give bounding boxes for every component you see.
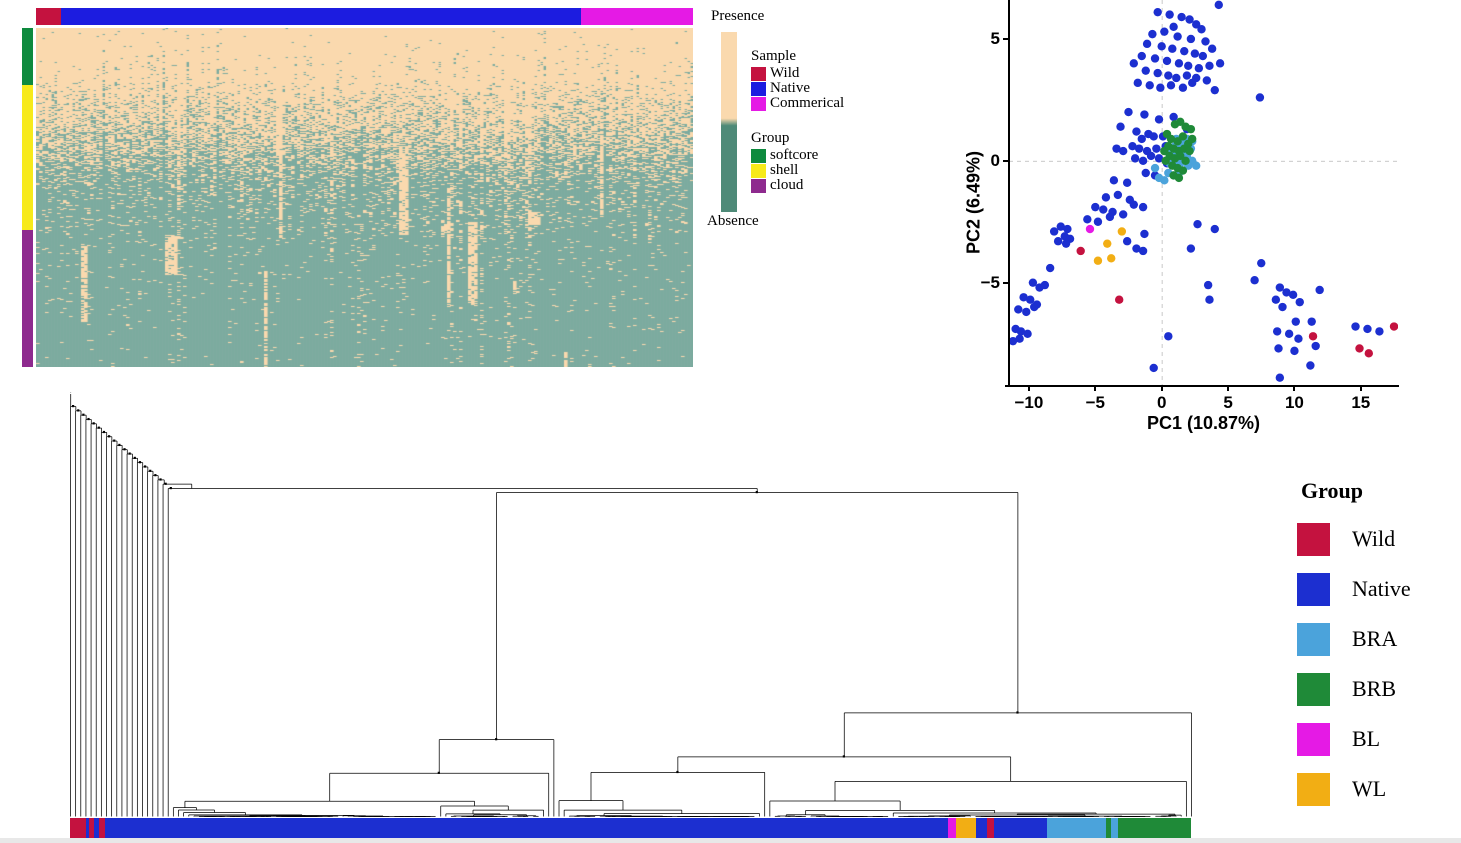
heatmap-matrix bbox=[36, 28, 693, 367]
gene-group-annotation-segment bbox=[22, 28, 33, 85]
pca-x-tick bbox=[1360, 385, 1362, 391]
pca-y-tick bbox=[1003, 282, 1009, 284]
group-swatch-wild bbox=[1297, 523, 1330, 556]
heatmap-sample-annotation-bar bbox=[36, 8, 693, 25]
dendrogram-canvas bbox=[0, 392, 1260, 822]
pca-x-tick-label: 15 bbox=[1351, 393, 1370, 413]
figure-root: Presence Absence Sample Wild Native Comm… bbox=[0, 0, 1461, 843]
gene-group-annotation-segment bbox=[22, 230, 33, 367]
swatch-shell bbox=[751, 164, 766, 178]
group-label-wl: WL bbox=[1352, 778, 1386, 800]
dendrogram-group-annotation-bar bbox=[70, 818, 1191, 838]
legend-label-native: Native bbox=[770, 81, 810, 96]
swatch-native bbox=[751, 82, 766, 96]
heatmap-gene-group-annotation-bar bbox=[22, 28, 33, 367]
group-label-brb: BRB bbox=[1352, 678, 1396, 700]
legend-item-shell: shell bbox=[751, 163, 818, 178]
pca-x-tick bbox=[1293, 385, 1295, 391]
dendrogram-annotation-segment bbox=[1111, 818, 1118, 838]
dendrogram-annotation-segment bbox=[70, 818, 86, 838]
legend-item-wild: Wild bbox=[751, 66, 844, 81]
group-label-wild: Wild bbox=[1352, 528, 1395, 550]
pca-x-axis-line bbox=[1005, 385, 1399, 387]
dendrogram-annotation-segment bbox=[956, 818, 976, 838]
legend-item-softcore: softcore bbox=[751, 148, 818, 163]
group-swatch-bl bbox=[1297, 723, 1330, 756]
legend-label-wild: Wild bbox=[770, 66, 799, 81]
group-legend-item-wild: Wild bbox=[1297, 514, 1461, 564]
pca-x-tick-label: 10 bbox=[1285, 393, 1304, 413]
swatch-softcore bbox=[751, 149, 766, 163]
legend-item-cloud: cloud bbox=[751, 178, 818, 193]
group-swatch-brb bbox=[1297, 673, 1330, 706]
legend-label-softcore: softcore bbox=[770, 148, 818, 163]
group-swatch-wl bbox=[1297, 773, 1330, 806]
pca-y-axis-line bbox=[1008, 0, 1010, 386]
group-legend: Group Wild Native BRA BRB BL WL bbox=[1297, 478, 1461, 808]
dendrogram-annotation-segment bbox=[994, 818, 1048, 838]
group-label-bra: BRA bbox=[1352, 628, 1397, 650]
dendrogram-annotation-segment bbox=[1047, 818, 1105, 838]
group-legend-item-bl: BL bbox=[1297, 714, 1461, 764]
pca-plot-area bbox=[1009, 0, 1398, 385]
legend-item-native: Native bbox=[751, 81, 844, 96]
legend-item-commerical: Commerical bbox=[751, 96, 844, 111]
sample-annotation-segment bbox=[581, 8, 693, 25]
dendrogram-annotation-segment bbox=[105, 818, 948, 838]
gene-group-legend-title: Group bbox=[751, 130, 818, 147]
pca-y-tick bbox=[1003, 160, 1009, 162]
dendrogram-panel bbox=[0, 392, 1260, 843]
swatch-wild bbox=[751, 67, 766, 81]
group-legend-item-brb: BRB bbox=[1297, 664, 1461, 714]
swatch-cloud bbox=[751, 179, 766, 193]
sample-legend-title: Sample bbox=[751, 48, 844, 65]
heatmap-panel: Presence Absence Sample Wild Native Comm… bbox=[0, 0, 730, 392]
group-legend-item-native: Native bbox=[1297, 564, 1461, 614]
pca-scatter-canvas bbox=[1009, 0, 1398, 385]
dendrogram-annotation-segment bbox=[1118, 818, 1191, 838]
pca-y-tick bbox=[1003, 38, 1009, 40]
absence-label: Absence bbox=[707, 213, 759, 230]
sample-annotation-segment bbox=[36, 8, 61, 25]
pca-x-tick bbox=[1094, 385, 1096, 391]
gene-group-annotation-segment bbox=[22, 85, 33, 230]
presence-absence-gradient bbox=[721, 32, 737, 212]
group-swatch-native bbox=[1297, 573, 1330, 606]
group-label-bl: BL bbox=[1352, 728, 1380, 750]
bottom-divider bbox=[0, 838, 1461, 843]
dendrogram-annotation-segment bbox=[948, 818, 956, 838]
pca-y-tick-label: 5 bbox=[976, 29, 1000, 49]
group-swatch-bra bbox=[1297, 623, 1330, 656]
pca-x-tick bbox=[1161, 385, 1163, 391]
gene-group-legend: Group softcore shell cloud bbox=[751, 130, 818, 193]
heatmap-legend: Presence Absence Sample Wild Native Comm… bbox=[707, 8, 887, 238]
group-label-native: Native bbox=[1352, 578, 1411, 600]
group-legend-item-wl: WL bbox=[1297, 764, 1461, 814]
pca-y-axis-title: PC2 (6.49%) bbox=[964, 93, 985, 313]
pca-x-tick bbox=[1028, 385, 1030, 391]
sample-annotation-segment bbox=[61, 8, 581, 25]
legend-label-commerical: Commerical bbox=[770, 96, 844, 111]
dendrogram-annotation-segment bbox=[987, 818, 994, 838]
heatmap-canvas bbox=[36, 28, 693, 367]
dendrogram-annotation-segment bbox=[976, 818, 987, 838]
pca-x-tick bbox=[1227, 385, 1229, 391]
legend-label-cloud: cloud bbox=[770, 178, 803, 193]
legend-label-shell: shell bbox=[770, 163, 798, 178]
swatch-commerical bbox=[751, 97, 766, 111]
group-legend-title: Group bbox=[1301, 478, 1461, 504]
presence-label: Presence bbox=[711, 8, 764, 25]
pca-panel: −10−505101550−5 PC1 (10.87%) PC2 (6.49%) bbox=[900, 0, 1461, 440]
sample-legend: Sample Wild Native Commerical bbox=[751, 48, 844, 111]
group-legend-item-bra: BRA bbox=[1297, 614, 1461, 664]
